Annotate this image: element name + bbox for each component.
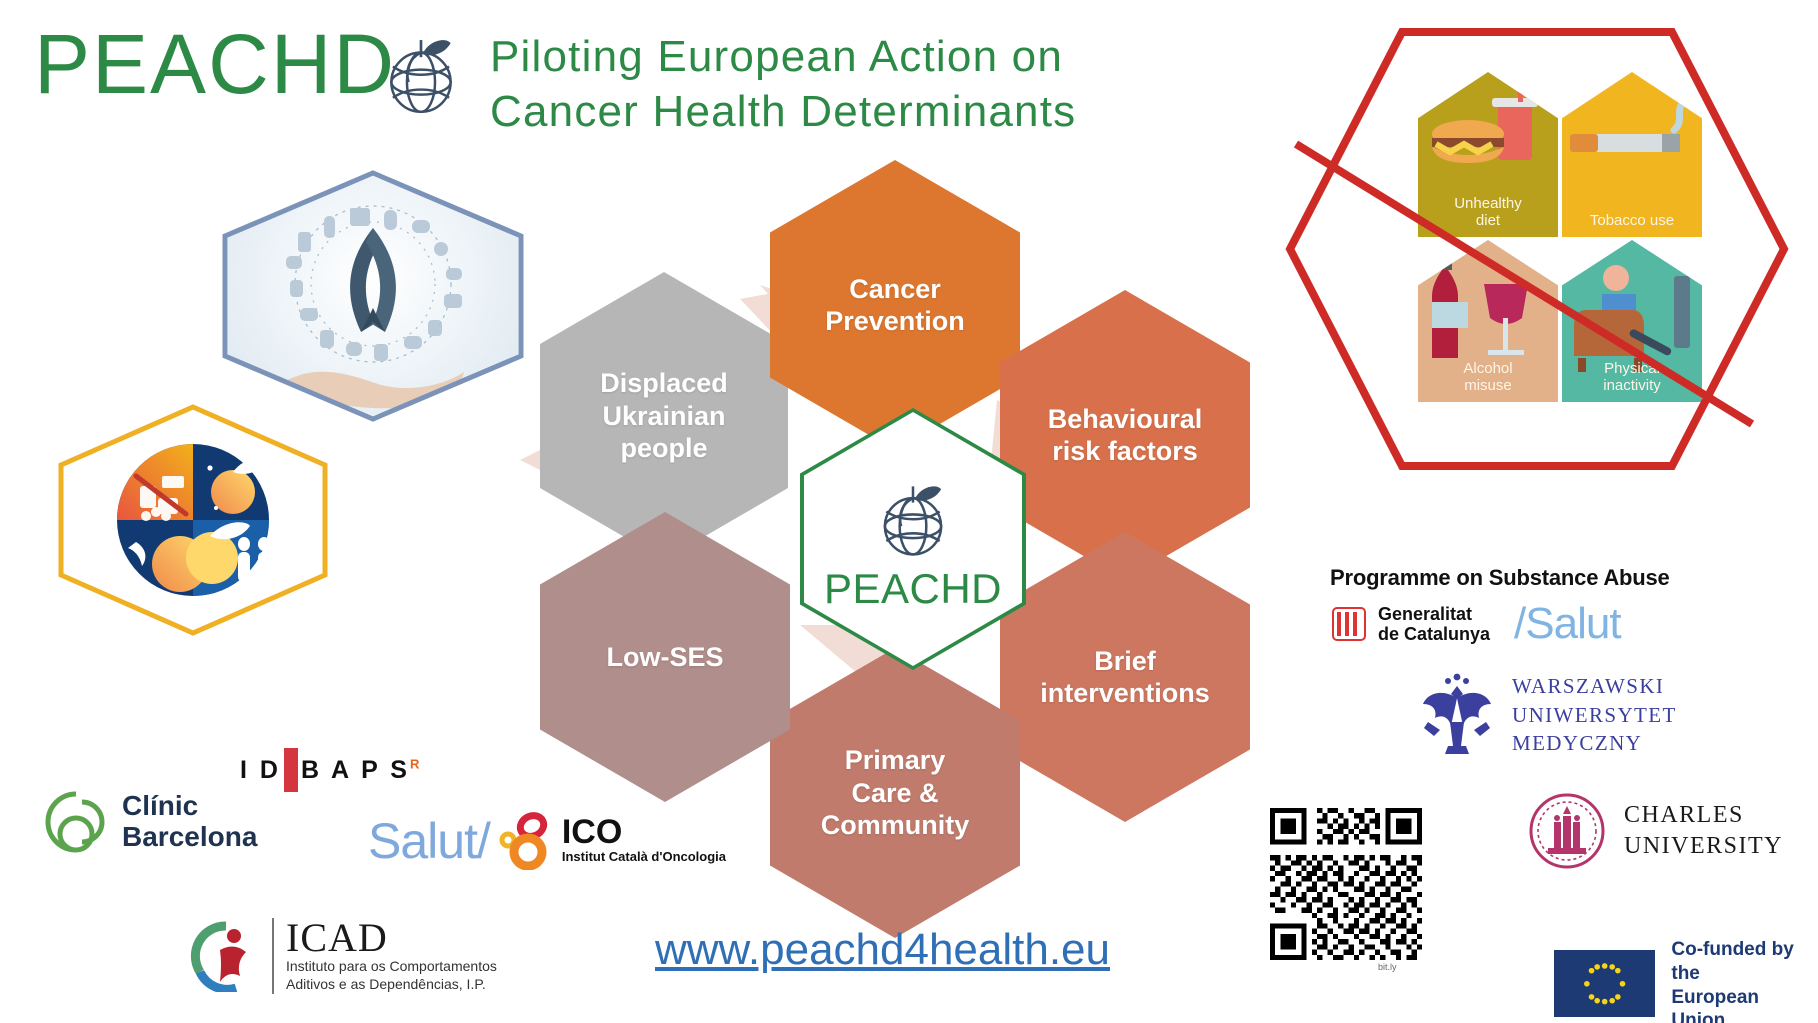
logo-programme-substance-abuse: Programme on Substance Abuse Generalitat… (1330, 565, 1700, 649)
qr-caption: bit.ly (1378, 962, 1397, 972)
poster-root: PEACHD Piloting European Action on Cance… (0, 0, 1818, 1023)
generalitat-text: Generalitatde Catalunya (1378, 604, 1490, 644)
logo-icad: ICAD Instituto para os ComportamentosAdi… (190, 918, 497, 994)
clinic-barcelona-name: ClínicBarcelona (122, 791, 257, 853)
peach-globe-icon (382, 26, 460, 118)
hex-center-label: PEACHD (824, 565, 1002, 613)
salut-wordmark: Salut/ (368, 812, 490, 870)
logo-clinic-barcelona: ClínicBarcelona (42, 788, 257, 856)
hex-primary-care-community[interactable]: Primary Care & Community (770, 648, 1020, 938)
logo-charles-university: CHARLESUNIVERSITY (1528, 792, 1783, 870)
page-title-line-2: Cancer Health Determinants (490, 85, 1310, 140)
hex-label-brief-interventions: Brief interventions (1028, 645, 1222, 710)
logo-idibaps: I DB A P SR (240, 748, 422, 792)
page-title-line-1: Piloting European Action on (490, 30, 1310, 85)
logo-warsaw-medical-university: WARSZAWSKI UNIWERSYTET MEDYCZNY (1418, 672, 1677, 758)
catalonia-shield-icon (1330, 605, 1368, 643)
warsaw-university-text: WARSZAWSKI UNIWERSYTET MEDYCZNY (1512, 672, 1677, 757)
icad-wordmark: ICAD (286, 915, 388, 960)
idibaps-post: B A P S (301, 756, 410, 784)
peach-quadrants-hex-frame (58, 404, 328, 636)
idibaps-pre: I D (240, 756, 281, 784)
qr-code-icon[interactable] (1270, 808, 1422, 960)
cancer-ribbon-hex-frame (222, 170, 524, 422)
ico-rings-icon (498, 812, 554, 870)
hex-label-cancer-prevention: Cancer Prevention (813, 273, 977, 338)
peachd-wordmark: PEACHD (34, 22, 396, 106)
red-hexagon-strike-overlay (1282, 24, 1792, 474)
icad-circle-figure-icon (190, 920, 262, 992)
eu-flag-icon (1554, 950, 1655, 1022)
peach-globe-icon (876, 473, 950, 559)
website-link[interactable]: www.peachd4health.eu (655, 925, 1110, 975)
salut-wordmark-secondary: /Salut (1514, 599, 1621, 649)
charles-university-text: CHARLESUNIVERSITY (1624, 800, 1783, 862)
page-title: Piloting European Action on Cancer Healt… (490, 30, 1310, 139)
clinic-spiral-icon (42, 788, 110, 856)
hex-label-low-ses: Low-SES (594, 641, 735, 673)
icad-subtitle: Instituto para os ComportamentosAditivos… (286, 958, 497, 992)
ico-wordmark: ICO (562, 813, 622, 851)
charles-university-seal-icon (1528, 792, 1606, 870)
idibaps-superscript: R (410, 757, 422, 772)
logo-eu-cofunded: Co-funded by theEuropean Union (1554, 938, 1818, 1023)
polish-eagle-crest-icon (1418, 672, 1496, 758)
hex-cancer-prevention[interactable]: Cancer Prevention (770, 160, 1020, 450)
hex-brief-interventions[interactable]: Brief interventions (1000, 532, 1250, 822)
logo-salut-ico: Salut/ ICO Institut Català d'Oncologia (368, 812, 726, 870)
hex-label-behavioural-risk-factors: Behavioural risk factors (1036, 403, 1215, 468)
hex-low-ses[interactable]: Low-SES (540, 512, 790, 802)
hex-label-primary-care-community: Primary Care & Community (809, 744, 982, 841)
eu-cofunded-text: Co-funded by theEuropean Union (1671, 938, 1818, 1023)
idibaps-bar (284, 748, 298, 792)
ico-subtitle: Institut Català d'Oncologia (562, 849, 726, 864)
hex-label-displaced-ukrainian-people: Displaced Ukrainian people (588, 367, 740, 464)
ico-text-block: ICO Institut Català d'Oncologia (562, 816, 726, 866)
programme-substance-abuse-title: Programme on Substance Abuse (1330, 565, 1700, 591)
